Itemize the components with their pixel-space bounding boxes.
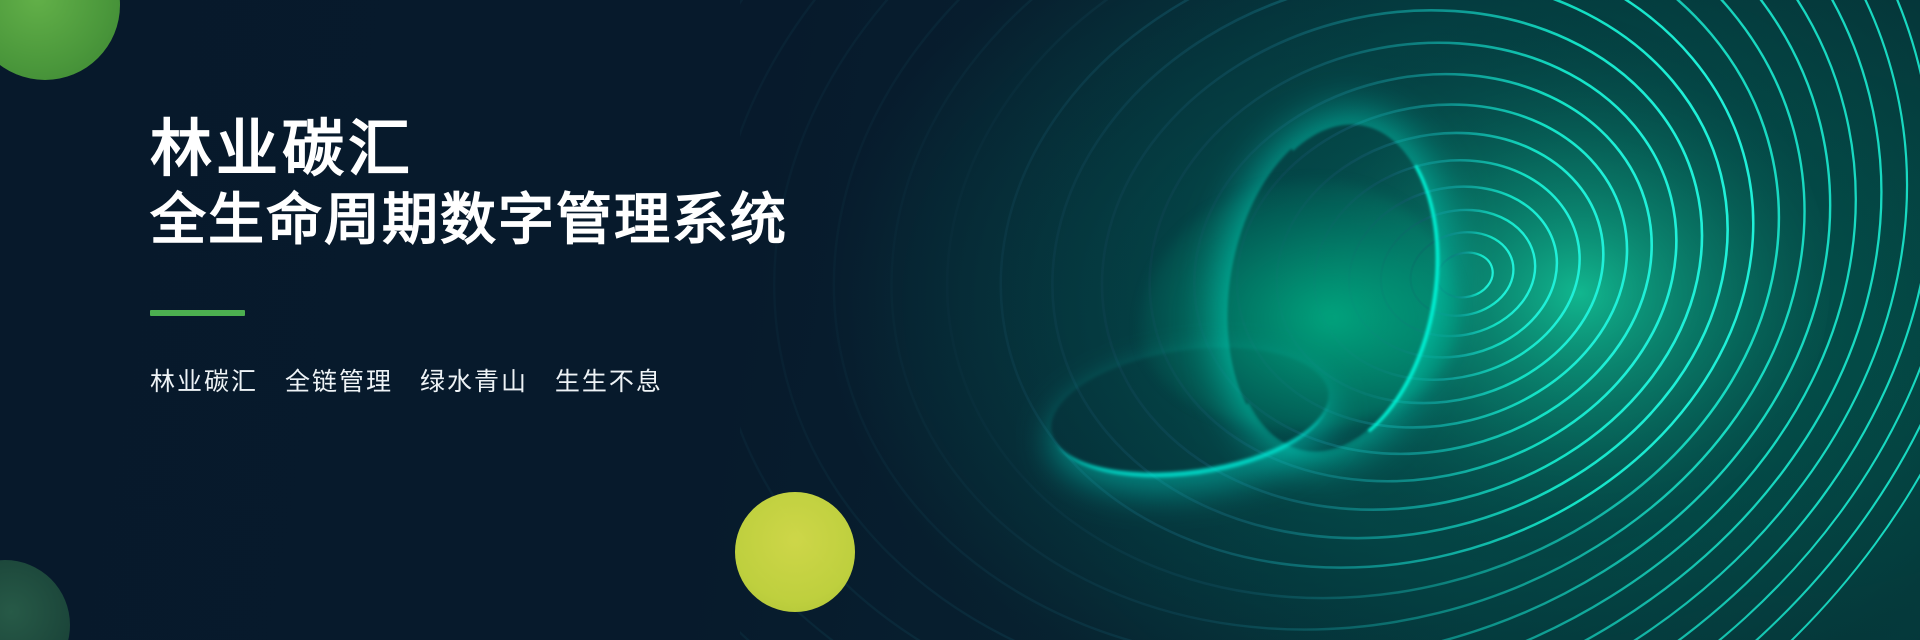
glow-arc-icon — [1202, 105, 1464, 472]
glow-core-icon — [1140, 180, 1460, 430]
hero-text-block: 林业碳汇 全生命周期数字管理系统 林业碳汇 全链管理 绿水青山 生生不息 — [150, 118, 990, 398]
tagline-part-3: 绿水青山 — [420, 368, 528, 396]
title-divider — [150, 310, 245, 316]
tagline-part-4: 生生不息 — [555, 368, 663, 396]
page-title-line2: 全生命周期数字管理系统 — [150, 190, 990, 249]
hero-banner: 林业碳汇 全生命周期数字管理系统 林业碳汇 全链管理 绿水青山 生生不息 — [0, 0, 1920, 640]
tagline-part-1: 林业碳汇 — [150, 368, 258, 396]
blob-bottom-left-icon — [0, 560, 70, 640]
hero-tagline: 林业碳汇 全链管理 绿水青山 生生不息 — [150, 362, 990, 398]
page-title-line1: 林业碳汇 — [150, 118, 990, 182]
blob-top-left-icon — [0, 0, 120, 80]
blob-bottom-center-icon — [735, 492, 855, 612]
glow-tail-icon — [1043, 331, 1338, 494]
tagline-part-2: 全链管理 — [285, 368, 393, 396]
